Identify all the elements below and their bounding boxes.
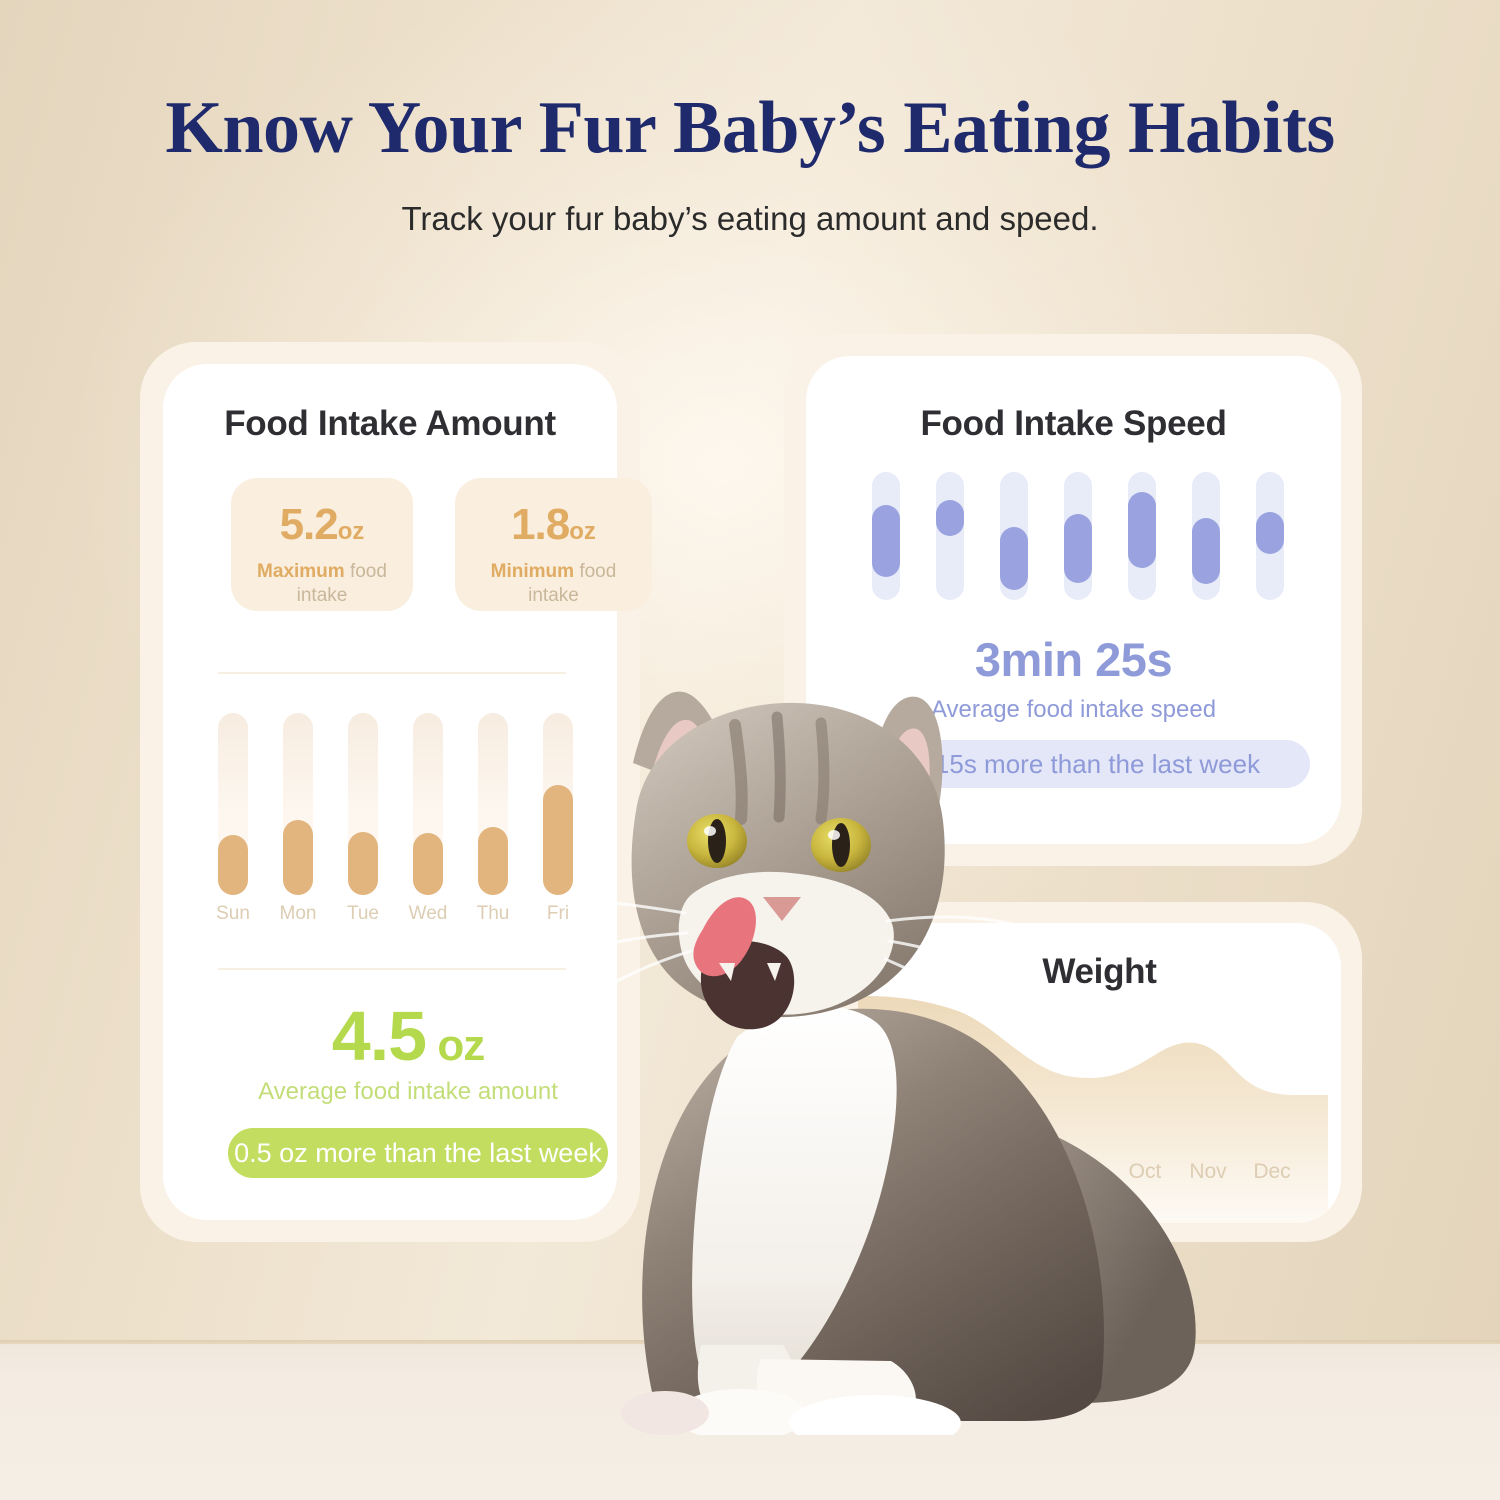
speed-bar-fill <box>1064 514 1092 583</box>
cat-pupil-left <box>708 819 726 863</box>
amount-bar-fill <box>478 827 508 895</box>
cat-head <box>535 692 1035 1030</box>
maximum-intake-stat-box: 5.2oz Maximum food intake <box>231 478 413 611</box>
food-intake-amount-title: Food Intake Amount <box>163 404 617 444</box>
amount-bar-day-label: Wed <box>401 903 455 925</box>
maximum-intake-label: Maximum food intake <box>231 560 413 608</box>
minimum-intake-stat-box: 1.8oz Minimum food intake <box>455 478 652 611</box>
amount-bar-day-label: Mon <box>271 903 325 925</box>
amount-bar-fill <box>283 820 313 895</box>
cat-stripe-3 <box>821 723 824 819</box>
cat-pupil-right <box>832 823 850 867</box>
minimum-intake-value: 1.8oz <box>455 500 652 550</box>
minimum-intake-label: Minimum food intake <box>455 560 652 608</box>
amount-bar-day-label: Sun <box>206 903 260 925</box>
page-title: Know Your Fur Baby’s Eating Habits <box>0 86 1500 171</box>
weight-month-label-dec: Dec <box>1237 1160 1307 1184</box>
food-intake-speed-range-chart <box>872 472 1282 604</box>
amount-bar-fill <box>348 832 378 895</box>
speed-bar-fill <box>936 500 964 536</box>
maximum-intake-value: 5.2oz <box>231 500 413 550</box>
page-subtitle: Track your fur baby’s eating amount and … <box>0 200 1500 238</box>
cat-eye-highlight-right <box>828 830 840 840</box>
amount-bar-day-label: Tue <box>336 903 390 925</box>
speed-bar-fill <box>1192 518 1220 584</box>
amount-bar-fill <box>413 833 443 895</box>
amount-bar-fill <box>218 835 248 895</box>
speed-bar-fill <box>1256 512 1284 554</box>
speed-bar-fill <box>1128 492 1156 568</box>
speed-bar-track <box>936 472 964 600</box>
cat-stripe-2 <box>777 717 780 817</box>
cat-paw-rear <box>621 1391 709 1435</box>
speed-bar-fill <box>1000 527 1028 590</box>
food-intake-speed-title: Food Intake Speed <box>806 404 1341 444</box>
cat-stripe-1 <box>735 725 742 819</box>
cat-eye-highlight-left <box>704 826 716 836</box>
speed-bar-fill <box>872 505 900 577</box>
cat-photo <box>505 645 1225 1435</box>
